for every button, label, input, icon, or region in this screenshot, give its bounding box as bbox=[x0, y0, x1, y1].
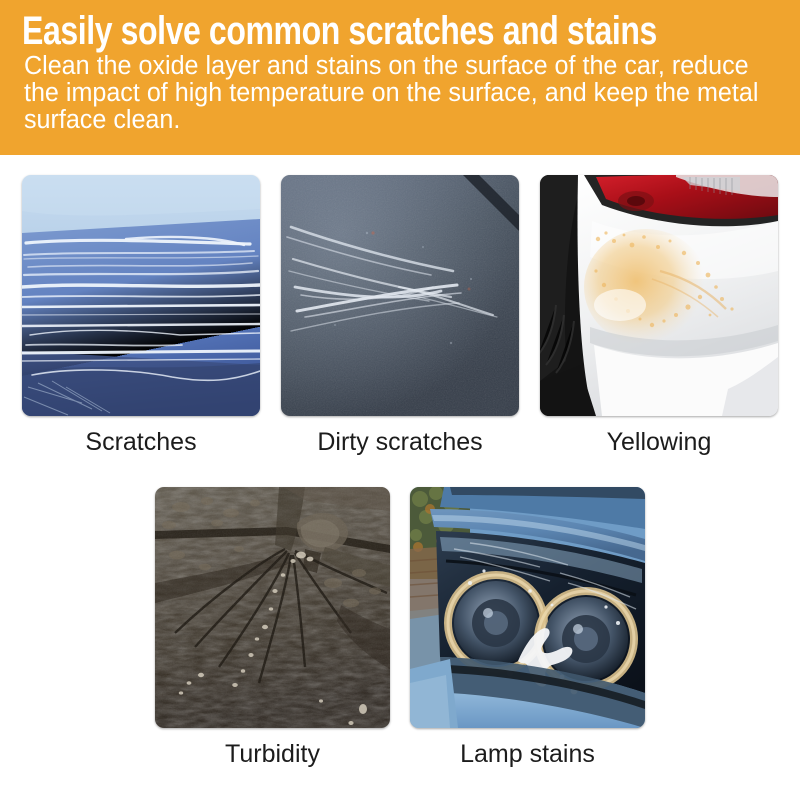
gallery-card-label: Dirty scratches bbox=[317, 428, 482, 456]
white-bumper-yellow-stain-photo bbox=[540, 175, 778, 416]
gallery-row-one: Scratches bbox=[22, 175, 778, 456]
gallery-card-label: Turbidity bbox=[225, 740, 320, 768]
gallery-card-label: Lamp stains bbox=[460, 740, 595, 768]
gallery-card-lamp-stains: Lamp stains bbox=[410, 487, 645, 768]
page-title: Easily solve common scratches and stains bbox=[22, 10, 633, 52]
header-banner: Easily solve common scratches and stains… bbox=[0, 0, 800, 155]
gallery-card-yellowing: Yellowing bbox=[540, 175, 778, 456]
product-infographic: Easily solve common scratches and stains… bbox=[0, 0, 800, 800]
gallery-card-scratches: Scratches bbox=[22, 175, 260, 456]
headlight-water-stains-photo bbox=[410, 487, 645, 728]
gallery-card-dirty-scratches: Dirty scratches bbox=[281, 175, 519, 456]
muddy-grimy-panel-photo bbox=[155, 487, 390, 728]
dark-metallic-curved-scratches-photo bbox=[281, 175, 519, 416]
blue-paint-horizontal-scratches-photo bbox=[22, 175, 260, 416]
gallery-card-label: Scratches bbox=[85, 428, 196, 456]
gallery-card-turbidity: Turbidity bbox=[155, 487, 390, 768]
gallery-row-two: Turbidity bbox=[155, 487, 645, 768]
page-subtitle: Clean the oxide layer and stains on the … bbox=[22, 53, 775, 134]
gallery-card-label: Yellowing bbox=[607, 428, 712, 456]
